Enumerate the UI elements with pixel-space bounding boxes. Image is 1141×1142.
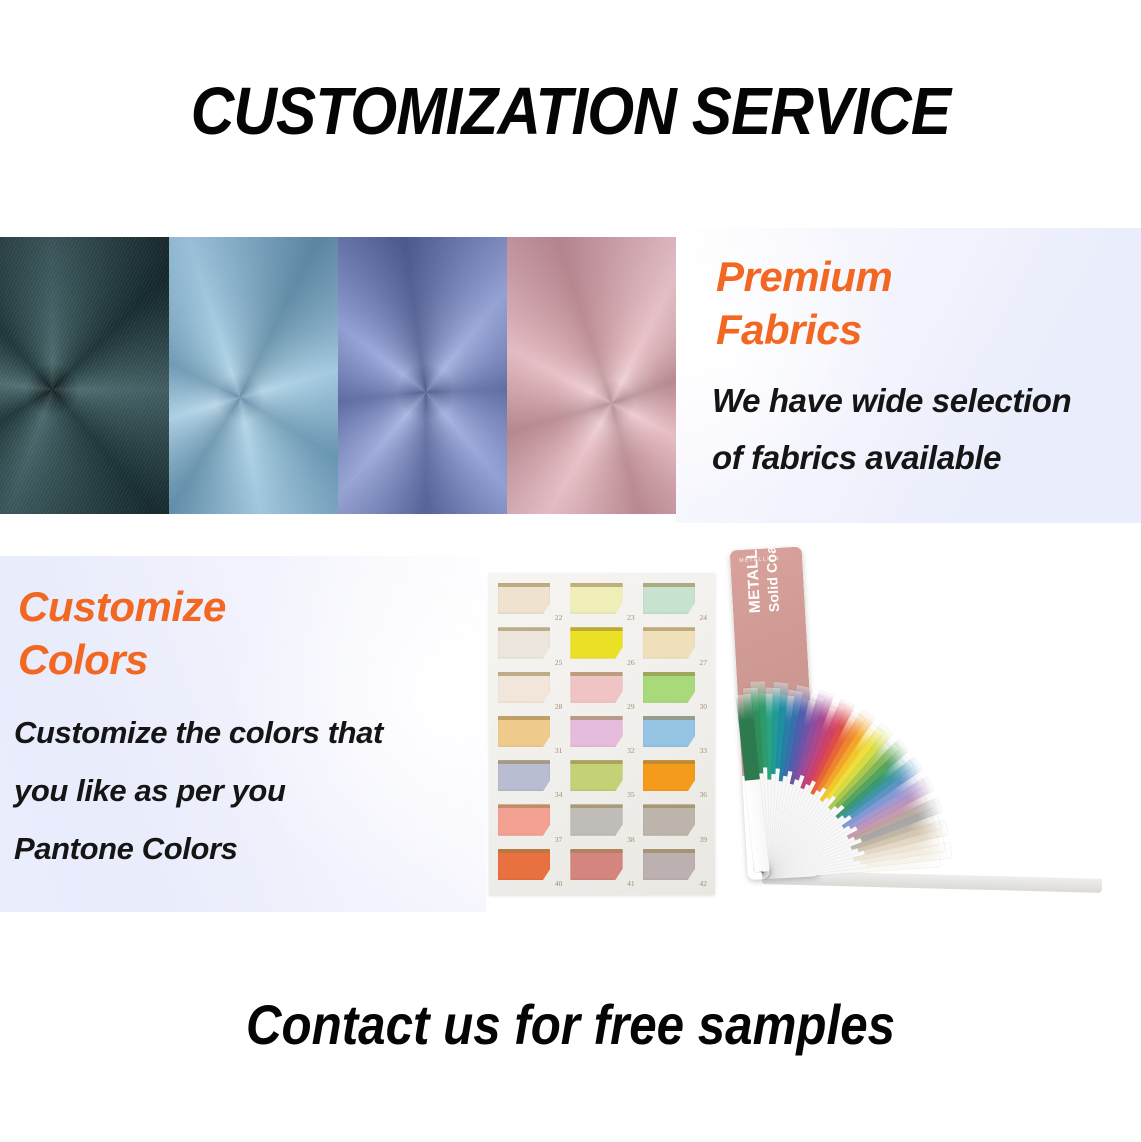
swatch-number: 24 [700, 613, 708, 622]
swatch-cell: 33 [641, 715, 708, 755]
page-title: CUSTOMIZATION SERVICE [57, 72, 1084, 152]
swatch-cell: 41 [568, 848, 635, 888]
swatch-cell: 22 [496, 582, 563, 622]
customize-sub-line3: Pantone Colors [14, 831, 237, 866]
swatch-number: 36 [700, 790, 708, 799]
swatch-number: 38 [627, 835, 635, 844]
swatch-number: 30 [700, 702, 708, 711]
customize-colors-panel: Customize Colors Customize the colors th… [0, 556, 486, 912]
swatch-cell: 34 [496, 759, 563, 799]
swatch-chip [643, 804, 695, 835]
premium-fabrics-row: Premium Fabrics We have wide selection o… [0, 228, 1141, 523]
swatch-cell: 35 [568, 759, 635, 799]
customize-heading-line1: Customize [18, 583, 226, 630]
premium-sub-line2: of fabrics available [712, 439, 1001, 476]
swatch-number: 33 [700, 746, 708, 755]
footer-cta: Contact us for free samples [68, 990, 1072, 1060]
swatch-cell: 38 [568, 803, 635, 843]
swatch-number: 35 [627, 790, 635, 799]
swatch-chip [498, 849, 550, 880]
fabric-image-strip [0, 237, 676, 514]
swatch-chip [570, 672, 622, 703]
swatch-chip [643, 760, 695, 791]
premium-fabrics-panel: Premium Fabrics We have wide selection o… [676, 228, 1141, 523]
swatch-cell: 25 [496, 626, 563, 666]
swatch-chip [498, 760, 550, 791]
swatch-cell: 42 [641, 848, 708, 888]
swatch-chip [498, 716, 550, 747]
swatch-number: 34 [555, 790, 563, 799]
swatch-chip [570, 716, 622, 747]
swatch-cell: 29 [568, 671, 635, 711]
premium-sub-line1: We have wide selection [712, 382, 1071, 419]
swatch-number: 32 [627, 746, 635, 755]
swatch-chip [643, 849, 695, 880]
fabric-swatch-dark-teal [0, 237, 169, 514]
swatch-chip [643, 583, 695, 614]
swatch-chip [643, 716, 695, 747]
swatch-number: 41 [627, 879, 635, 888]
swatch-number: 29 [627, 702, 635, 711]
swatch-number: 42 [700, 879, 708, 888]
swatch-chip [498, 583, 550, 614]
swatch-cell: 36 [641, 759, 708, 799]
customize-sub-line1: Customize the colors that [14, 715, 383, 750]
swatch-number: 26 [627, 658, 635, 667]
pantone-cover-title: METALLICS Solid Coated [742, 547, 782, 614]
swatch-cell: 40 [496, 848, 563, 888]
swatch-chip [643, 627, 695, 658]
premium-fabrics-heading: Premium Fabrics [716, 250, 1116, 356]
customize-sub-line2: you like as per you [14, 773, 286, 808]
fabric-swatch-pink [507, 237, 676, 514]
swatch-number: 31 [555, 746, 563, 755]
swatch-chip [498, 627, 550, 658]
swatch-cell: 39 [641, 803, 708, 843]
swatch-number: 28 [555, 702, 563, 711]
swatch-cell: 32 [568, 715, 635, 755]
swatch-number: 27 [700, 658, 708, 667]
swatch-cell: 26 [568, 626, 635, 666]
pantone-fan-deck: METALLICS METALLICS Solid Coated PANTONE… [722, 534, 1141, 916]
color-swatch-card: 2223242526272829303132333435363738394041… [489, 573, 715, 895]
swatch-chip [570, 760, 622, 791]
fabric-swatch-light-blue [169, 237, 338, 514]
color-swatch-grid: 2223242526272829303132333435363738394041… [496, 582, 708, 888]
swatch-number: 22 [555, 613, 563, 622]
swatch-number: 23 [627, 613, 635, 622]
swatch-cell: 37 [496, 803, 563, 843]
swatch-number: 40 [555, 879, 563, 888]
pantone-cover-title-line1: METALLICS [742, 547, 765, 614]
swatch-chip [498, 804, 550, 835]
swatch-chip [570, 583, 622, 614]
swatch-cell: 30 [641, 671, 708, 711]
premium-fabrics-description: We have wide selection of fabrics availa… [712, 372, 1137, 486]
premium-heading-line1: Premium [716, 253, 892, 300]
swatch-chip [643, 672, 695, 703]
swatch-chip [570, 627, 622, 658]
customize-colors-heading: Customize Colors [18, 580, 438, 686]
swatch-cell: 27 [641, 626, 708, 666]
customize-heading-line2: Colors [18, 636, 148, 683]
premium-heading-line2: Fabrics [716, 306, 862, 353]
swatch-number: 37 [555, 835, 563, 844]
customize-colors-row: Customize Colors Customize the colors th… [0, 556, 1141, 916]
swatch-chip [570, 804, 622, 835]
swatch-cell: 31 [496, 715, 563, 755]
swatch-chip [570, 849, 622, 880]
swatch-cell: 23 [568, 582, 635, 622]
swatch-cell: 24 [641, 582, 708, 622]
customize-colors-description: Customize the colors that you like as pe… [14, 704, 484, 878]
swatch-number: 39 [700, 835, 708, 844]
swatch-chip [498, 672, 550, 703]
swatch-number: 25 [555, 658, 563, 667]
fabric-swatch-periwinkle [338, 237, 507, 514]
swatch-cell: 28 [496, 671, 563, 711]
